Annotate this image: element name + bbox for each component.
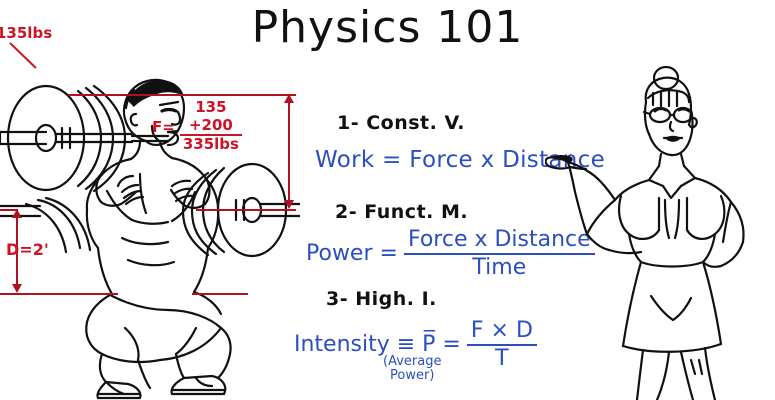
force-addend-2: +200 (186, 117, 236, 135)
lifter-illustration (0, 28, 300, 400)
measure-line-bottom-right (192, 293, 248, 295)
instructor-illustration (545, 30, 775, 400)
average-power-note: (Average Power) (383, 355, 441, 384)
whiteboard-canvas: Physics 101 (0, 0, 775, 400)
instructor-figure (545, 30, 775, 400)
intensity-denominator: T (491, 346, 512, 372)
average-power-note-line1: (Average (383, 355, 441, 369)
lesson-2-heading: 2- Funct. M. (335, 201, 468, 223)
measure-line-bottom-left (0, 293, 118, 295)
average-power-note-line2: Power) (383, 369, 441, 383)
force-addend-1: 135 (192, 99, 229, 117)
intensity-numerator: F × D (467, 318, 537, 344)
plate-weight-label: 135lbs (0, 24, 52, 42)
force-calculation: F= 135 +200 335lbs (152, 99, 242, 154)
distance-label: D=2' (6, 240, 49, 259)
lifter-diagram (0, 28, 300, 400)
measure-line-top (68, 94, 296, 96)
lesson-3-heading: 3- High. I. (326, 288, 437, 310)
force-equals-label: F= (152, 118, 180, 136)
force-total: 335lbs (180, 136, 242, 154)
power-denominator: Time (468, 255, 530, 281)
measure-line-mid-right (196, 209, 296, 211)
power-lead: Power = (306, 241, 404, 266)
lesson-1-heading: 1- Const. V. (337, 112, 465, 134)
